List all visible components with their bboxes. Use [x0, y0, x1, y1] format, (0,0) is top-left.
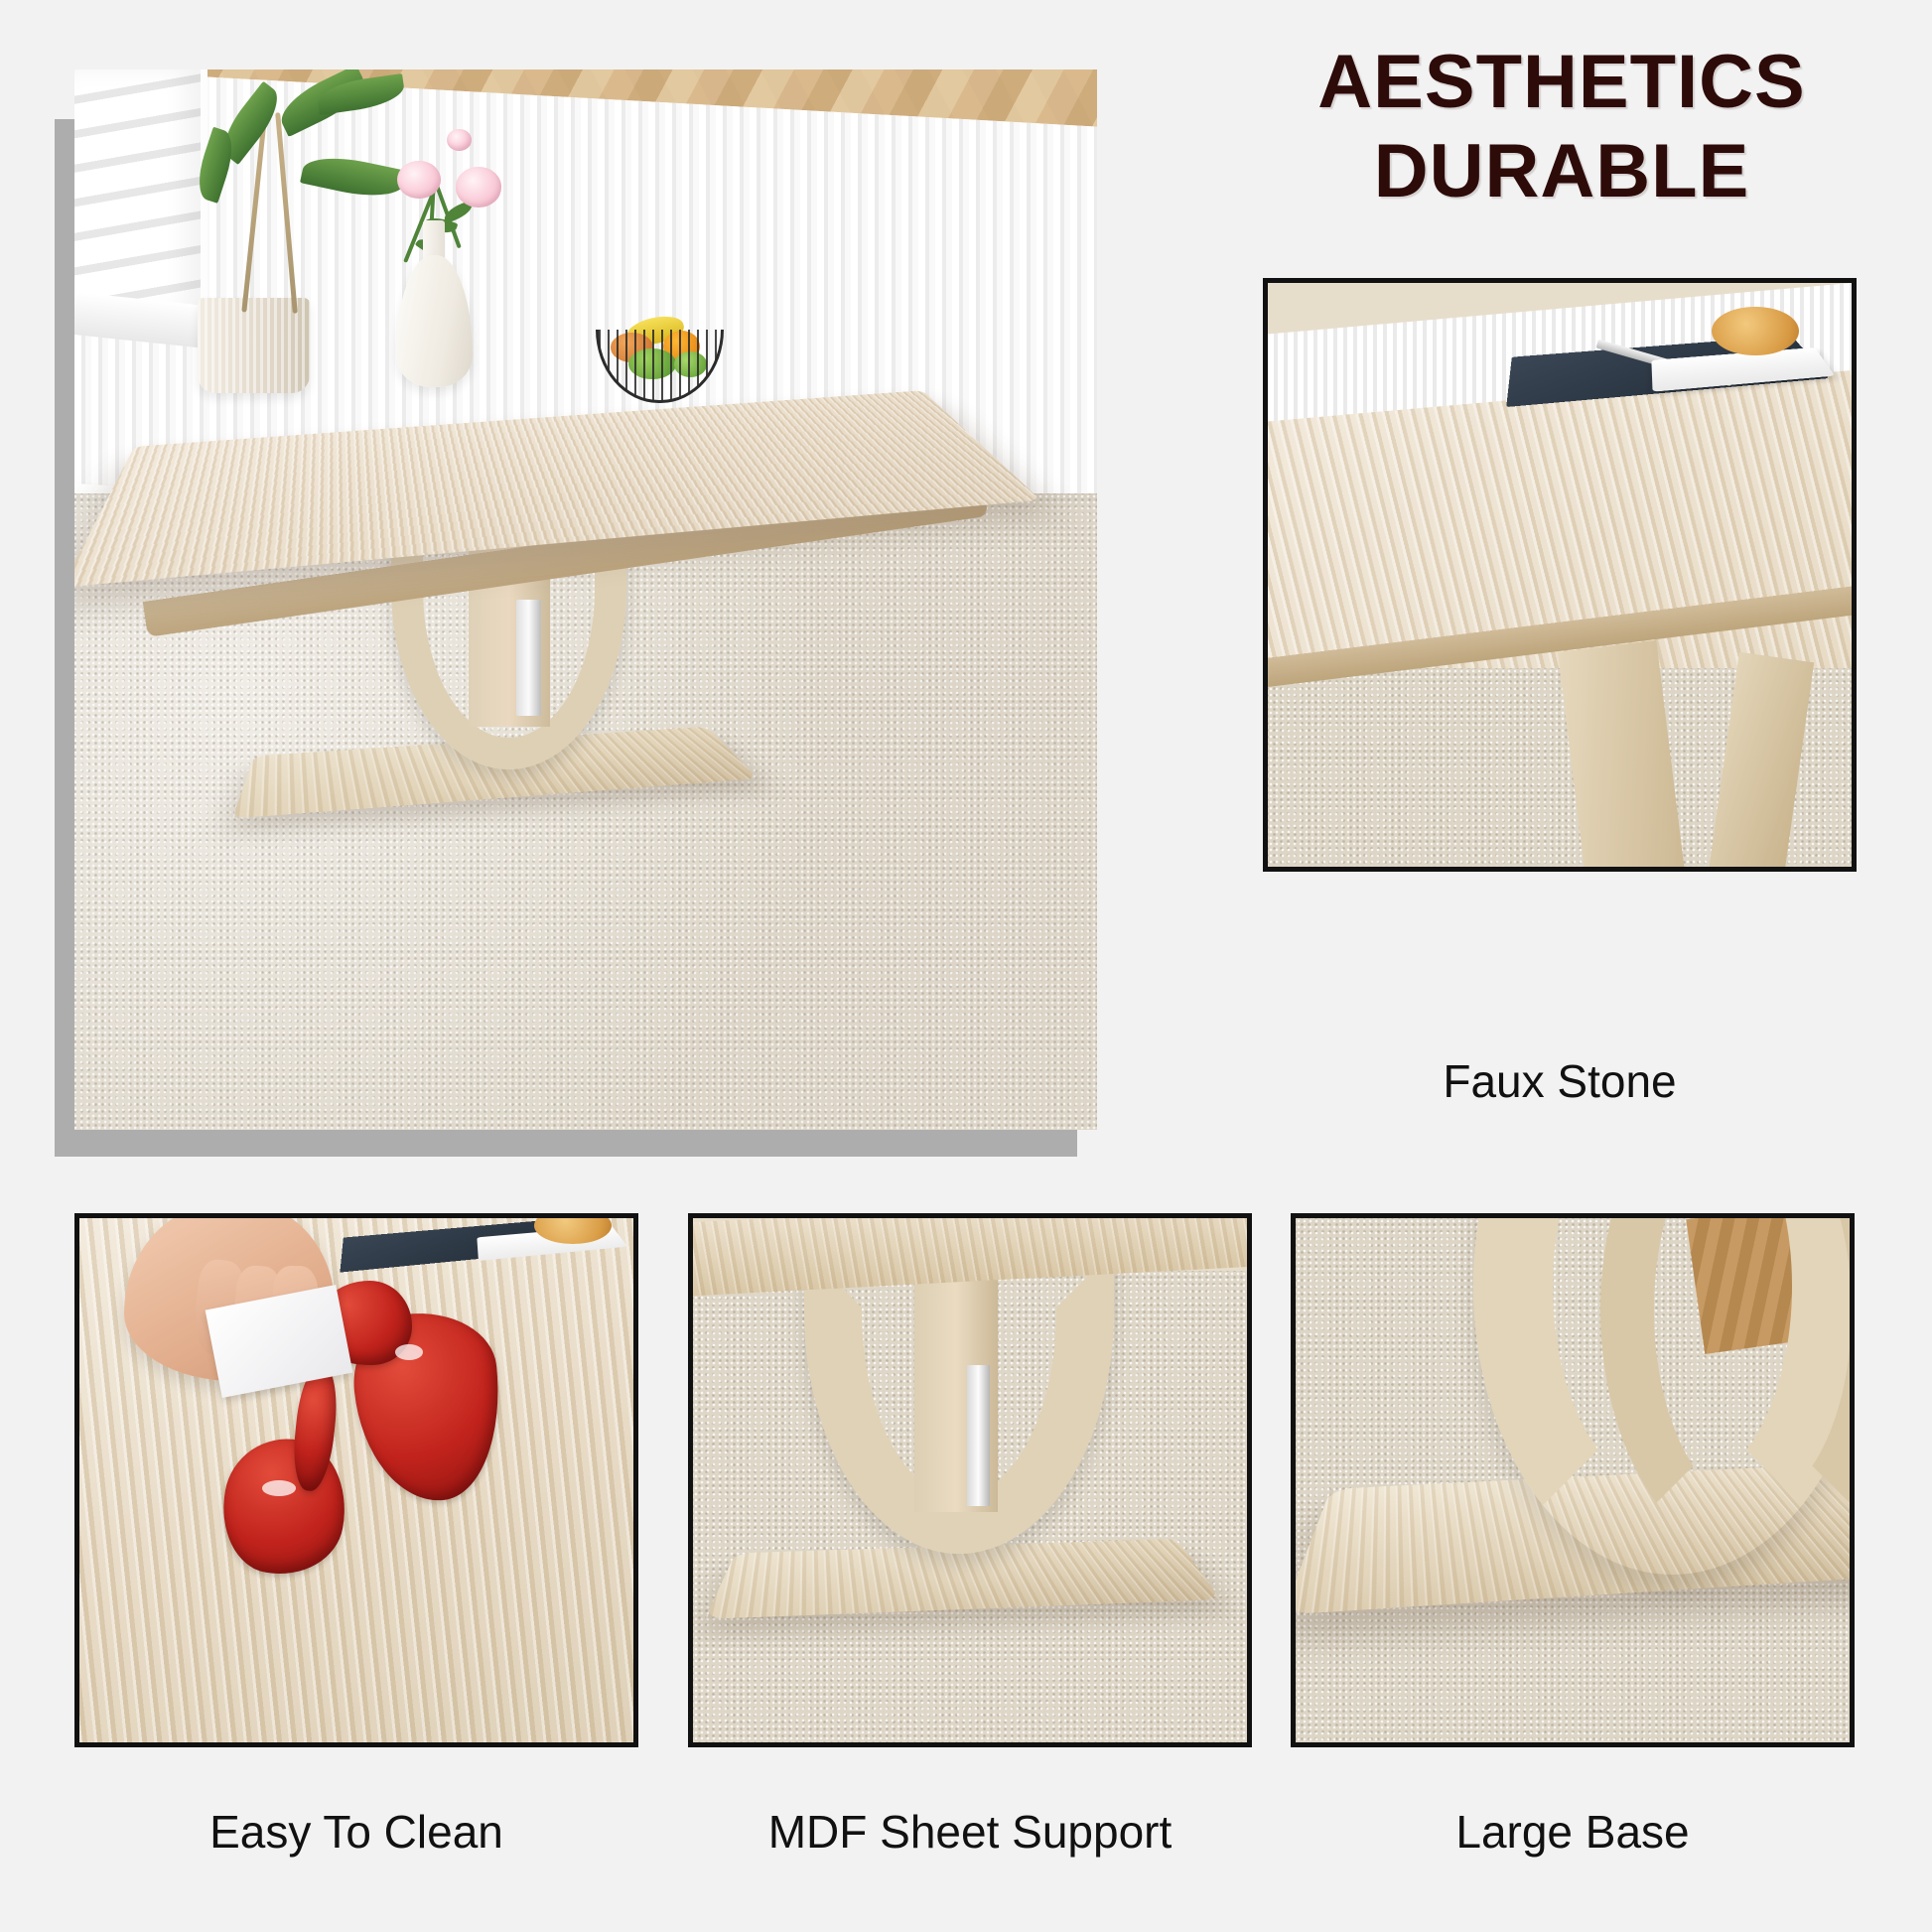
headline-line-2: DURABLE	[1209, 127, 1914, 216]
panel-large-base	[1291, 1213, 1855, 1747]
chrome-accent-strip	[967, 1365, 989, 1507]
window	[74, 69, 207, 314]
caption-faux-stone: Faux Stone	[1263, 1054, 1857, 1108]
rose-bloom-right	[456, 167, 500, 207]
rose-bloom-left	[397, 161, 440, 199]
caption-easy-to-clean: Easy To Clean	[74, 1805, 638, 1859]
panel-mdf-sheet-support	[688, 1213, 1252, 1747]
rose-bud	[447, 129, 472, 151]
caption-mdf-sheet-support: MDF Sheet Support	[688, 1805, 1252, 1859]
headline-line-1: AESTHETICS	[1209, 38, 1914, 127]
spill-highlight-2	[262, 1480, 295, 1496]
caption-large-base: Large Base	[1291, 1805, 1855, 1859]
chrome-accent-strip	[516, 600, 541, 716]
panel-easy-to-clean	[74, 1213, 638, 1747]
panel-faux-stone	[1263, 278, 1857, 872]
bread-roll	[1712, 307, 1799, 356]
spill-highlight-1	[395, 1344, 423, 1360]
headline-block: AESTHETICS DURABLE	[1209, 38, 1914, 215]
hero-image-dining-table-room	[74, 69, 1097, 1130]
